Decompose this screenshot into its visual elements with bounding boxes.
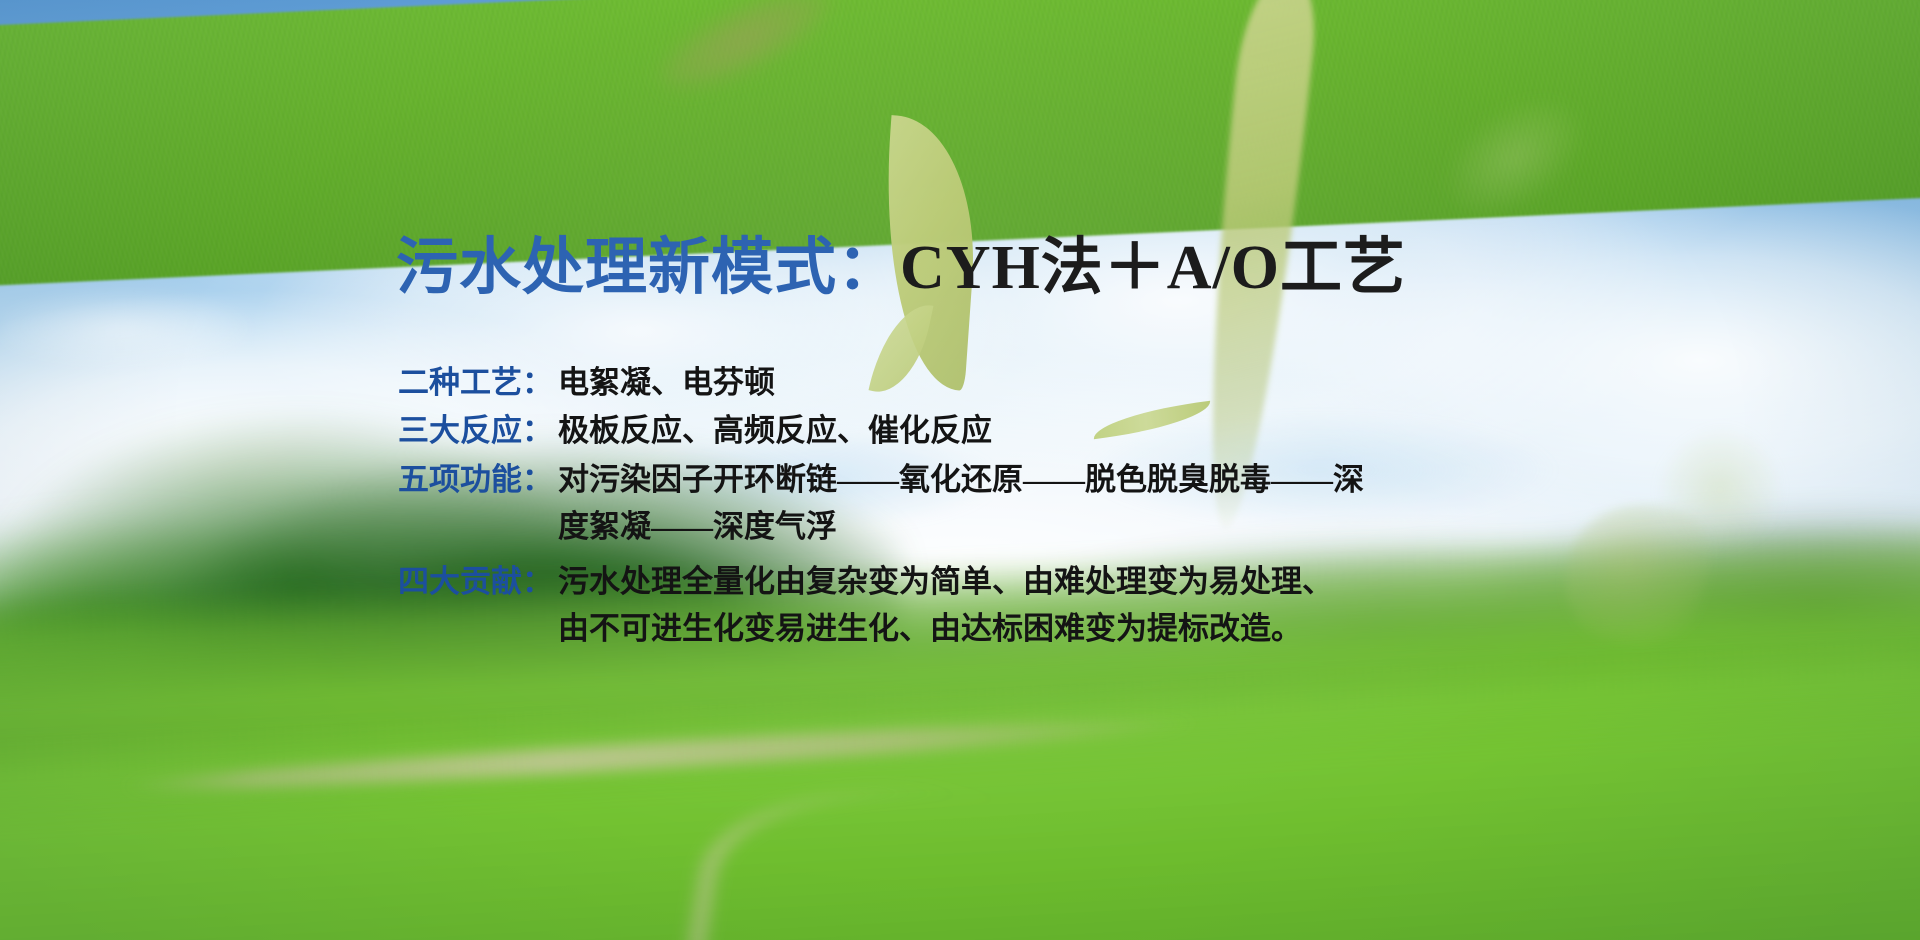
bullet-list: 二种工艺： 电絮凝、电芬顿 三大反应： 极板反应、高频反应、催化反应 五项功能：…	[398, 360, 1498, 652]
bullet-label-contributions: 四大贡献：	[398, 559, 558, 604]
bullet-value-functions: 对污染因子开环断链——氧化还原——脱色脱臭脱毒——深 度絮凝——深度气浮	[558, 457, 1498, 550]
slide-canvas: 污水处理新模式：CYH法＋A/O工艺 二种工艺： 电絮凝、电芬顿 三大反应： 极…	[0, 0, 1920, 940]
bullet-text-contributions: 污水处理全量化由复杂变为简单、由难处理变为易处理、	[558, 564, 1333, 599]
bullet-label-functions: 五项功能：	[398, 457, 558, 502]
bullet-label-reactions: 三大反应：	[398, 408, 558, 453]
bullet-row-processes: 二种工艺： 电絮凝、电芬顿	[398, 360, 1498, 405]
bullet-value-processes: 电絮凝、电芬顿	[558, 360, 1498, 405]
slide-content: 污水处理新模式：CYH法＋A/O工艺 二种工艺： 电絮凝、电芬顿 三大反应： 极…	[0, 0, 1920, 940]
bullet-text-contributions-continued: 由不可进生化变易进生化、由达标困难变为提标改造。	[558, 606, 1498, 651]
slide-title: 污水处理新模式：CYH法＋A/O工艺	[396, 236, 1406, 301]
bullet-row-functions: 五项功能： 对污染因子开环断链——氧化还原——脱色脱臭脱毒——深 度絮凝——深度…	[398, 457, 1498, 550]
bullet-text-processes: 电絮凝、电芬顿	[558, 365, 775, 400]
bullet-text-functions-continued: 度絮凝——深度气浮	[558, 504, 1498, 549]
bullet-row-reactions: 三大反应： 极板反应、高频反应、催化反应	[398, 408, 1498, 453]
slide-title-blue-part: 污水处理新模式：	[396, 234, 900, 302]
bullet-text-functions: 对污染因子开环断链——氧化还原——脱色脱臭脱毒——深	[558, 462, 1364, 497]
bullet-value-contributions: 污水处理全量化由复杂变为简单、由难处理变为易处理、 由不可进生化变易进生化、由达…	[558, 559, 1498, 652]
bullet-row-contributions: 四大贡献： 污水处理全量化由复杂变为简单、由难处理变为易处理、 由不可进生化变易…	[398, 559, 1498, 652]
bullet-text-reactions: 极板反应、高频反应、催化反应	[558, 413, 992, 448]
slide-title-dark-part: CYH法＋A/O工艺	[900, 234, 1406, 302]
bullet-value-reactions: 极板反应、高频反应、催化反应	[558, 408, 1498, 453]
bullet-label-processes: 二种工艺：	[398, 360, 558, 405]
